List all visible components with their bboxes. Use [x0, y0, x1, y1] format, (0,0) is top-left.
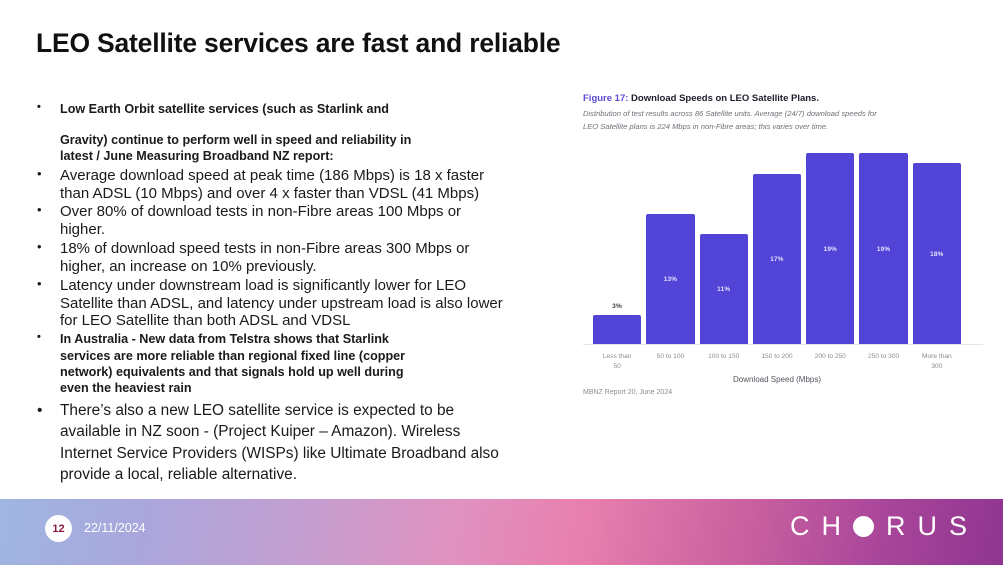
x-axis-category-label: 100 to 150 — [700, 352, 748, 372]
bullet-line: Internet Service Providers (WISPs) like … — [60, 443, 538, 464]
bar-column: 13% — [646, 139, 694, 345]
logo-letter: R — [886, 513, 906, 540]
x-axis-category-label: 250 to 300 — [859, 352, 907, 372]
x-axis-category-label-line: 100 to 150 — [700, 352, 748, 362]
bullet-marker-icon: • — [37, 239, 42, 254]
x-axis-category-label-line: 150 to 200 — [753, 352, 801, 362]
logo-letter: U — [917, 513, 937, 540]
page-number-badge: 12 — [45, 515, 72, 542]
x-axis-category-label: 150 to 200 — [753, 352, 801, 372]
bar: 18% — [913, 163, 961, 344]
bullet-marker-icon: • — [37, 100, 41, 114]
bullet-line: Satellite than ADSL, and latency under u… — [60, 295, 538, 313]
bar: 11% — [700, 234, 748, 345]
bullet-line-spacer — [60, 117, 538, 132]
bullet-list: •Low Earth Orbit satellite services (suc… — [33, 101, 538, 486]
x-axis-category-label: Less than50 — [593, 352, 641, 372]
bar-chart-plot-area: 3%13%11%17%19%19%18% — [583, 139, 983, 345]
bar-column: 11% — [700, 139, 748, 345]
bullet-marker-icon: • — [37, 330, 41, 344]
x-axis-category-label-line: More than — [913, 352, 961, 362]
logo-letter: C — [790, 513, 810, 540]
x-axis-category-label-line: 50 — [593, 362, 641, 372]
figure-label: Figure 17: — [583, 93, 628, 104]
x-axis-title: Download Speed (Mbps) — [593, 375, 961, 384]
bar: 17% — [753, 174, 801, 345]
bullet-item: •There’s also a new LEO satellite servic… — [33, 400, 538, 485]
x-axis-category-label: 50 to 100 — [646, 352, 694, 372]
bullet-line: higher. — [60, 221, 538, 239]
bullet-line: network) equivalents and that signals ho… — [60, 364, 538, 380]
bullet-line: even the heaviest rain — [60, 380, 538, 396]
x-axis-category-label: More than300 — [913, 352, 961, 372]
bullet-line: provide a local, reliable alternative. — [60, 464, 538, 485]
x-axis-category-label: 200 to 250 — [806, 352, 854, 372]
bar-column: 3% — [593, 139, 641, 345]
bullet-marker-icon: • — [37, 400, 42, 421]
bullet-line: Low Earth Orbit satellite services (such… — [60, 101, 538, 117]
bar-value-label: 3% — [593, 303, 641, 310]
bullet-item: •Low Earth Orbit satellite services (suc… — [33, 101, 538, 165]
bar: 13% — [646, 214, 694, 345]
bar-column: 19% — [806, 139, 854, 345]
bar-column: 18% — [913, 139, 961, 345]
chart-source-note: MBNZ Report 20, June 2024 — [583, 389, 672, 396]
figure-title: Download Speeds on LEO Satellite Plans. — [631, 93, 819, 104]
bar-value-label: 13% — [664, 276, 677, 283]
slide-footer: 12 22/11/2024 CHRUS — [0, 499, 1003, 565]
x-axis-category-label-line: 250 to 300 — [859, 352, 907, 362]
bullet-line: than ADSL (10 Mbps) and over 4 x faster … — [60, 185, 538, 203]
bullet-line: available in NZ soon - (Project Kuiper –… — [60, 421, 538, 442]
bar: 19% — [806, 153, 854, 345]
bar-series: 3%13%11%17%19%19%18% — [593, 139, 961, 345]
page-title: LEO Satellite services are fast and reli… — [36, 28, 916, 60]
bullet-line: latest / June Measuring Broadband NZ rep… — [60, 148, 538, 164]
bar-value-label: 19% — [824, 246, 837, 253]
bullet-marker-icon: • — [37, 202, 42, 217]
logo-circle-icon — [853, 516, 874, 537]
figure-subtitle-line-1: Distribution of test results across 86 S… — [583, 108, 983, 120]
bullet-item: •In Australia - New data from Telstra sh… — [33, 331, 538, 396]
bullet-item: •18% of download speed tests in non-Fibr… — [33, 240, 538, 276]
bar-column: 19% — [859, 139, 907, 345]
x-axis-line — [583, 344, 983, 345]
bar-value-label: 18% — [930, 251, 943, 258]
bullet-marker-icon: • — [37, 276, 42, 291]
bullet-item: •Over 80% of download tests in non-Fibre… — [33, 203, 538, 239]
bar: 19% — [859, 153, 907, 345]
bullet-line: There’s also a new LEO satellite service… — [60, 400, 538, 421]
logo-letter: H — [821, 513, 841, 540]
footer-date: 22/11/2024 — [84, 521, 146, 535]
figure-heading: Figure 17: Download Speeds on LEO Satell… — [583, 93, 983, 105]
bullet-line: for LEO Satellite than both ADSL and VDS… — [60, 312, 538, 330]
x-axis-category-label-line: 200 to 250 — [806, 352, 854, 362]
chorus-logo: CHRUS — [790, 513, 967, 540]
x-axis-category-labels: Less than5050 to 100100 to 150150 to 200… — [593, 352, 961, 372]
bullet-line: Gravity) continue to perform well in spe… — [60, 132, 538, 148]
logo-letter: S — [949, 513, 967, 540]
x-axis-category-label-line: Less than — [593, 352, 641, 362]
x-axis-category-label-line: 50 to 100 — [646, 352, 694, 362]
bullet-marker-icon: • — [37, 166, 42, 181]
bar — [593, 315, 641, 345]
bullet-line: Over 80% of download tests in non-Fibre … — [60, 203, 538, 221]
bar-value-label: 11% — [717, 286, 730, 293]
bullet-line: In Australia - New data from Telstra sho… — [60, 331, 538, 347]
figure-subtitle-line-2: LEO Satellite plans is 224 Mbps in non-F… — [583, 121, 983, 133]
figure-subtitle: Distribution of test results across 86 S… — [583, 108, 983, 133]
bullet-item: •Average download speed at peak time (18… — [33, 167, 538, 203]
bullet-line: Average download speed at peak time (186… — [60, 167, 538, 185]
x-axis-category-label-line: 300 — [913, 362, 961, 372]
bar-column: 17% — [753, 139, 801, 345]
bar-value-label: 17% — [770, 256, 783, 263]
bullet-line: higher, an increase on 10% previously. — [60, 258, 538, 276]
bullet-line: 18% of download speed tests in non-Fibre… — [60, 240, 538, 258]
bar-value-label: 19% — [877, 246, 890, 253]
bullet-line: services are more reliable than regional… — [60, 348, 538, 364]
chart-panel: Figure 17: Download Speeds on LEO Satell… — [583, 93, 983, 413]
bullet-line: Latency under downstream load is signifi… — [60, 277, 538, 295]
bullet-item: •Latency under downstream load is signif… — [33, 277, 538, 331]
